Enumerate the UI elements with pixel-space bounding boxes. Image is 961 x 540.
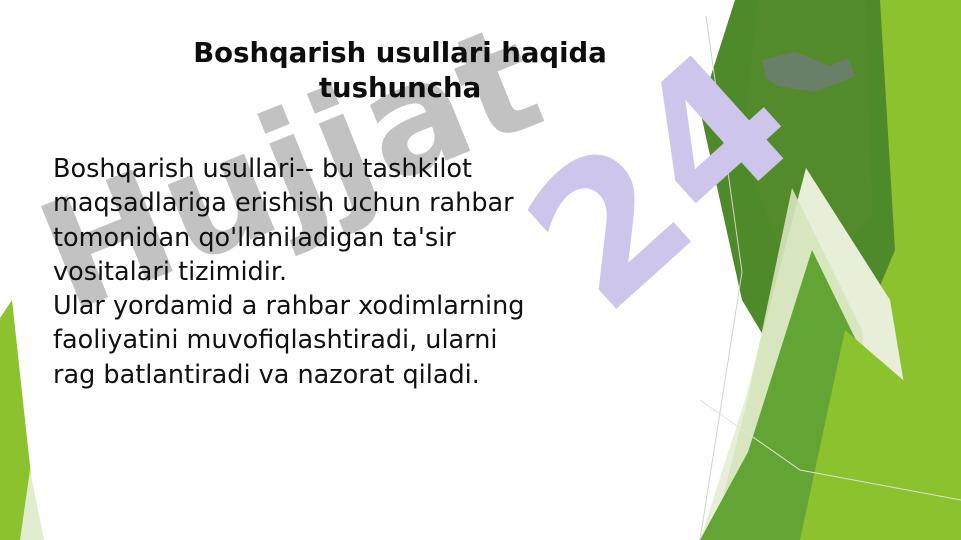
- body-paragraph-2: Ular yordamid a rahbar xodimlarning faol…: [53, 289, 678, 392]
- slide-title: Boshqarish usullari haqida tushuncha: [120, 36, 680, 106]
- slide-content: Boshqarish usullari haqida tushuncha Bos…: [0, 0, 961, 540]
- presentation-slide: Hujjat 24 Boshqarish usullari haqida tus…: [0, 0, 961, 540]
- slide-body: Boshqarish usullari-- bu tashkilot maqsa…: [53, 152, 678, 392]
- body-paragraph-1: Boshqarish usullari-- bu tashkilot maqsa…: [53, 152, 678, 289]
